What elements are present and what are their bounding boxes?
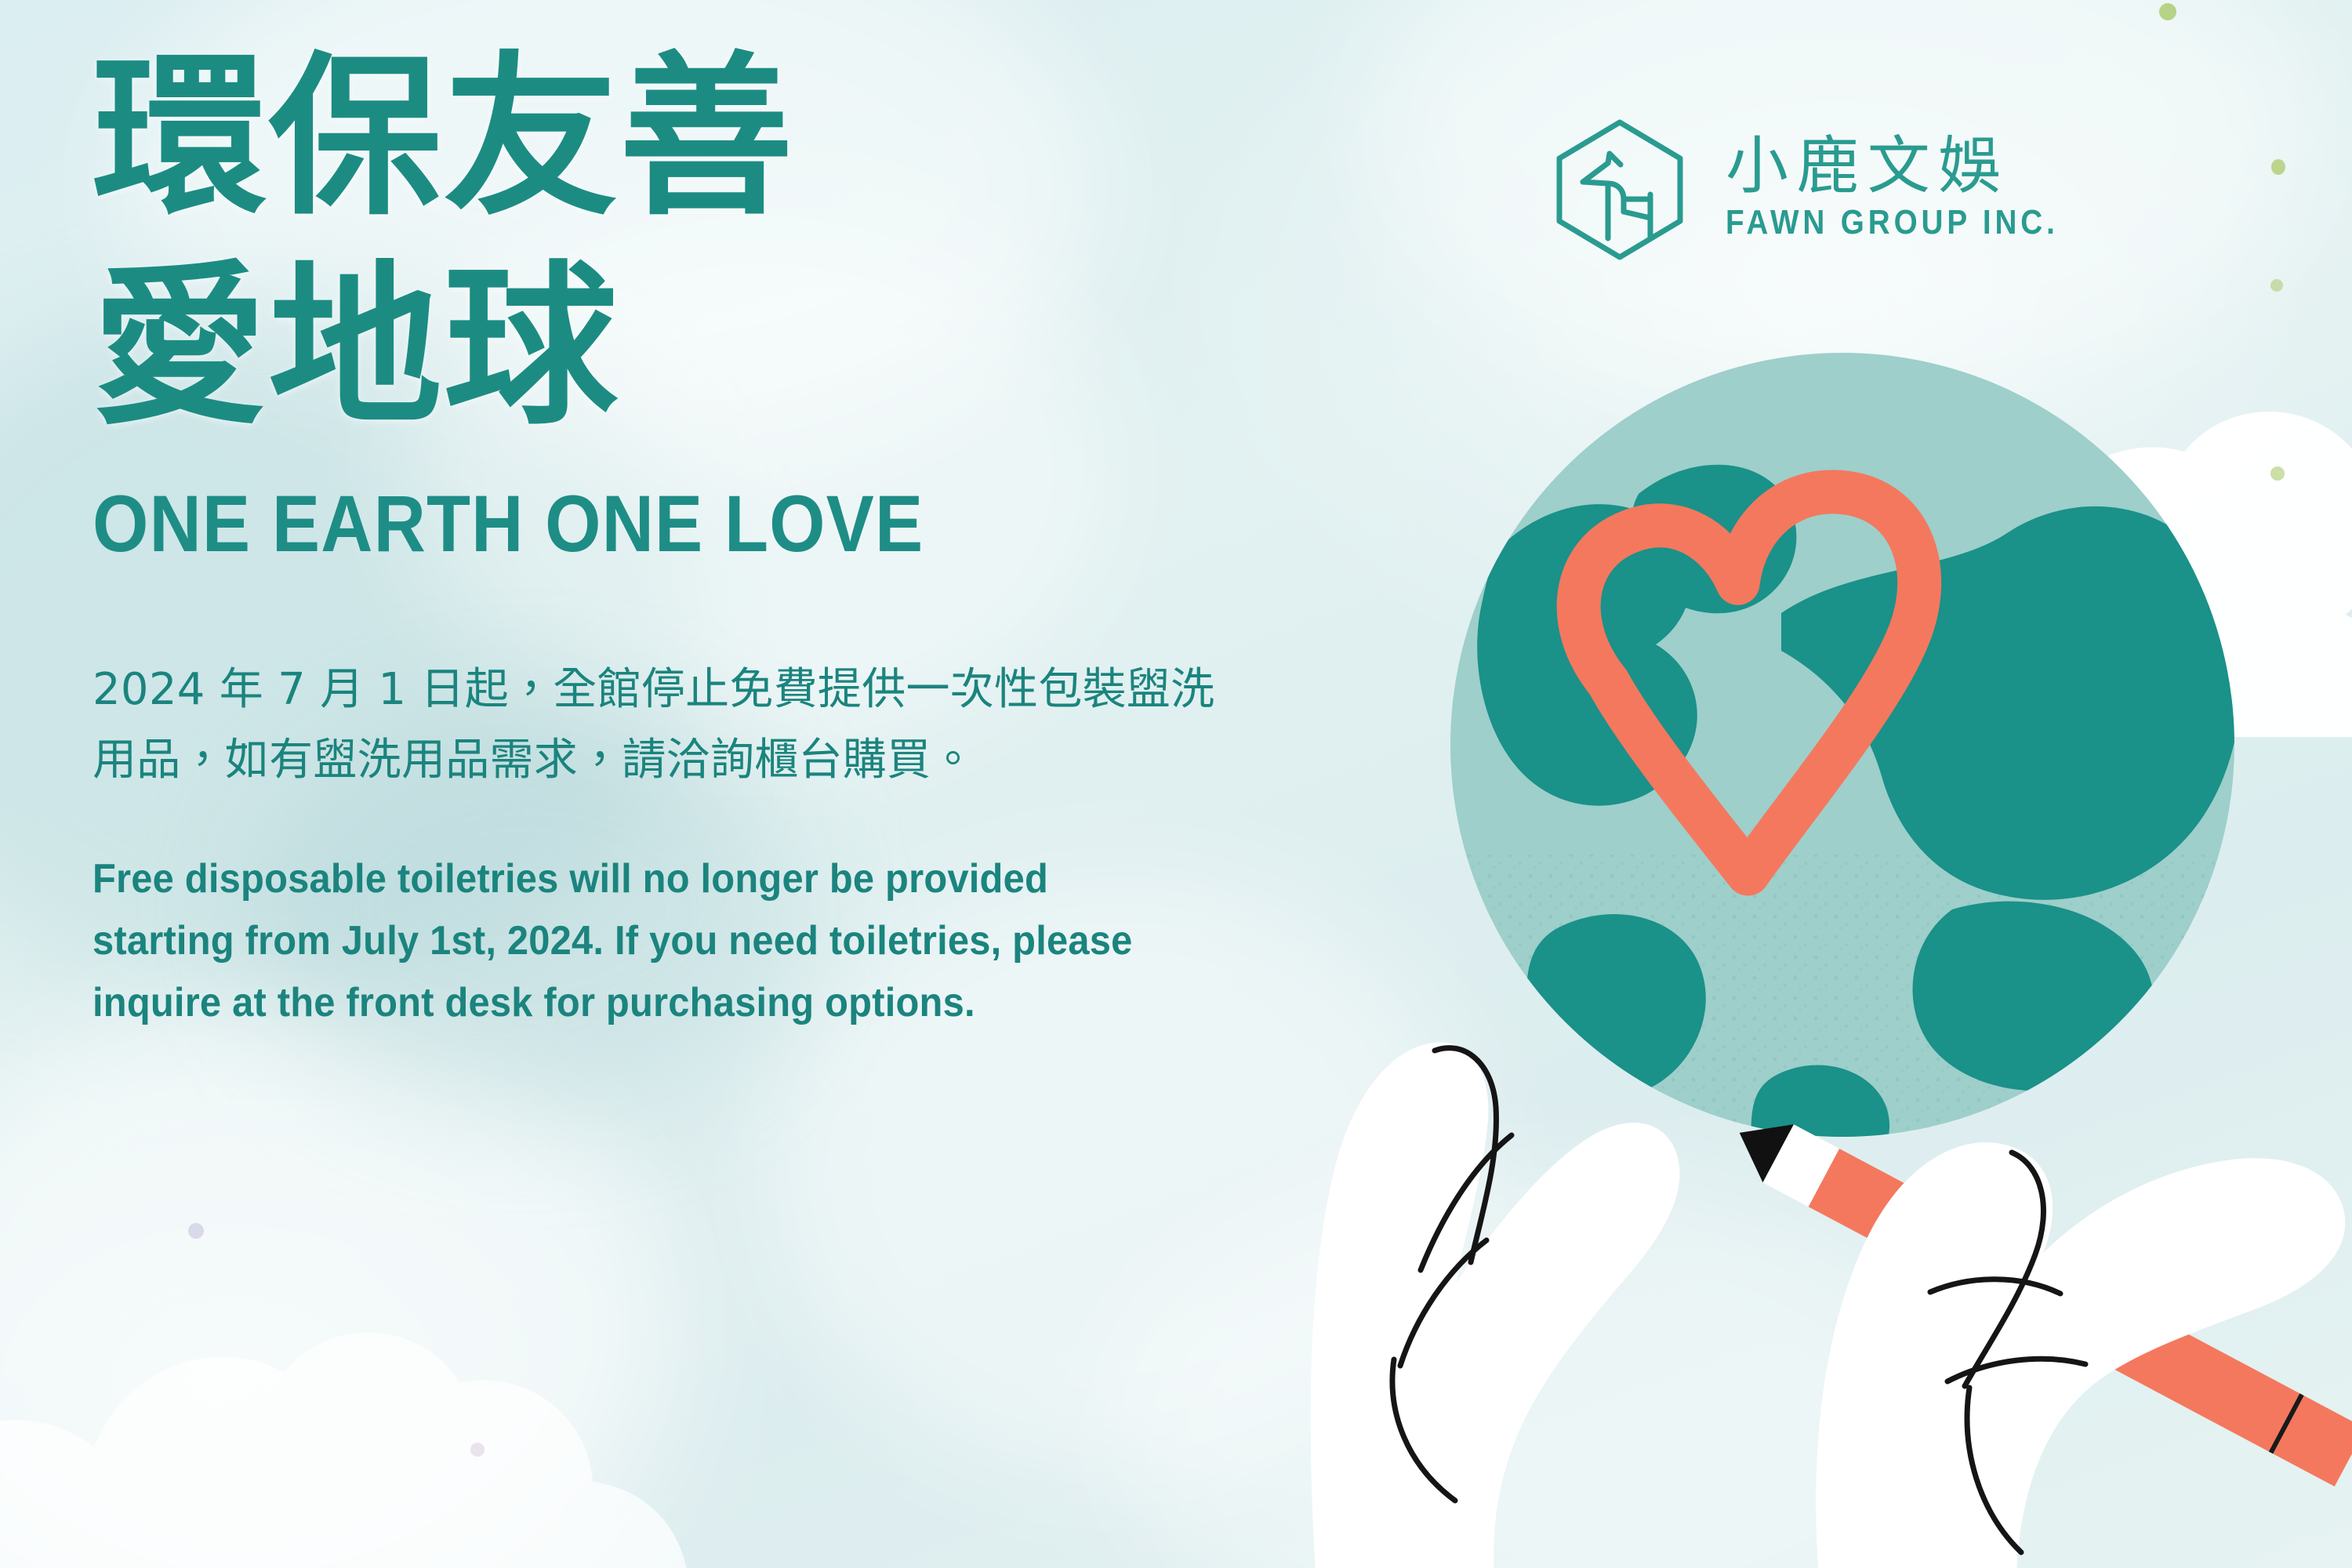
confetti-dot [2271, 159, 2285, 175]
headline-line-2: 愛地球 [93, 256, 1316, 437]
confetti-dot [188, 1223, 204, 1239]
confetti-dot [470, 1443, 485, 1457]
headline-line-1: 環保友善 [93, 47, 1316, 228]
notice-body-chinese: 2024 年 7 月 1 日起，全館停止免費提供一次性包裝盥洗用品，如有盥洗用品… [93, 655, 1245, 797]
brand-text: 小鹿文娛 FAWN GROUP INC. [1726, 135, 2104, 240]
tagline: ONE EARTH ONE LOVE [93, 478, 1193, 570]
confetti-dot [2159, 3, 2176, 20]
hand-holding-globe [1311, 1042, 1680, 1568]
text-column: 環保友善 愛地球 ONE EARTH ONE LOVE 2024 年 7 月 1… [93, 47, 1316, 1034]
background-wash [0, 1004, 666, 1568]
earth-illustration [1301, 259, 2352, 1568]
eco-notice-poster: 小鹿文娛 FAWN GROUP INC. 環保友善 愛地球 ONE EARTH … [0, 0, 2352, 1568]
cloud-shape-bottom-left [0, 1215, 776, 1568]
brand-name-en: FAWN GROUP INC. [1726, 205, 2059, 240]
brand-lockup: 小鹿文娛 FAWN GROUP INC. [1548, 107, 2104, 268]
hexagon-fawn-logo-icon [1548, 107, 1691, 268]
brand-name-cn: 小鹿文娛 [1726, 135, 2104, 198]
page-title: 環保友善 愛地球 [93, 47, 1316, 437]
notice-body-english: Free disposable toiletries will no longe… [93, 848, 1161, 1034]
hand-holding-pencil [1816, 1142, 2345, 1568]
